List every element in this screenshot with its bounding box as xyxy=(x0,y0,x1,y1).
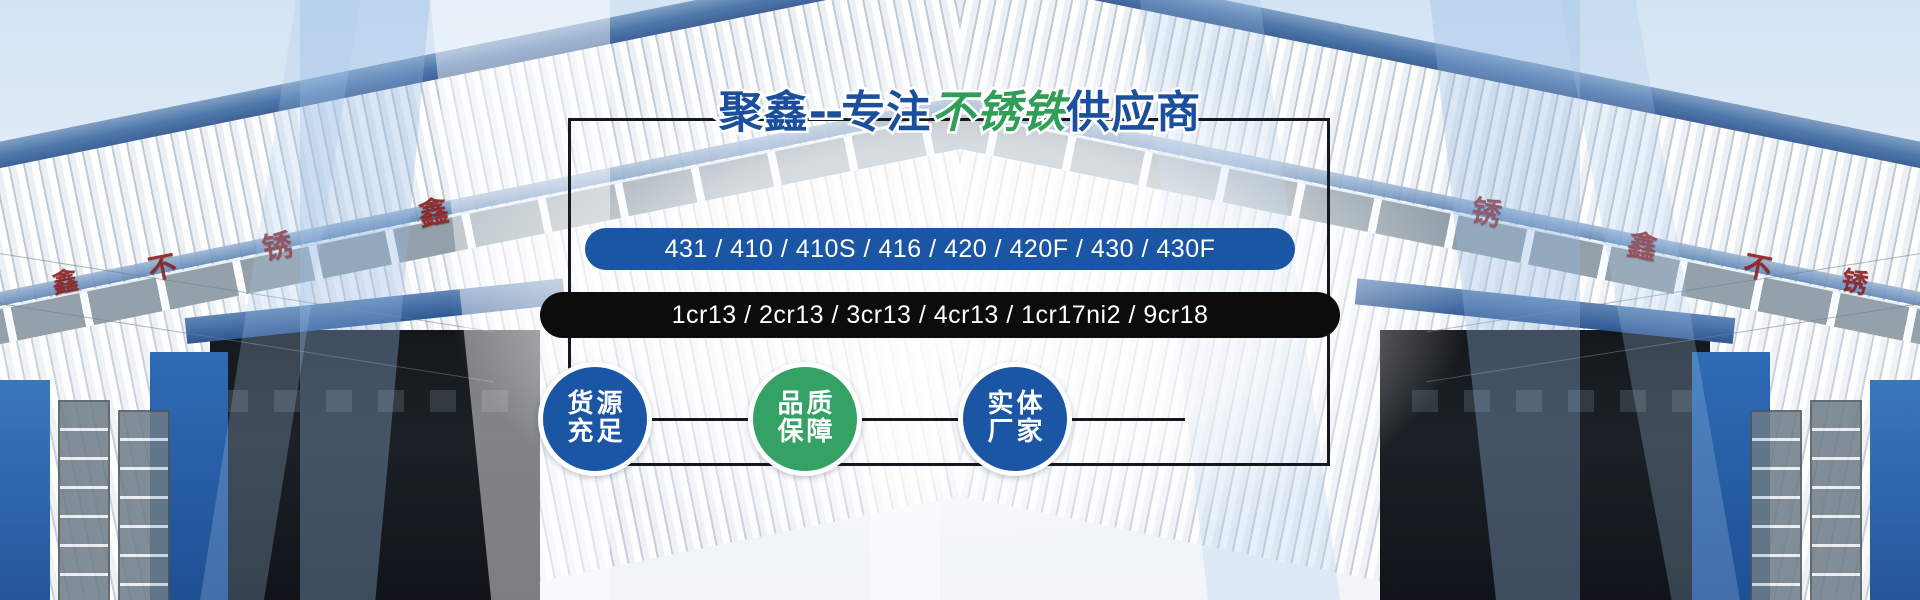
badge-line1: 货源 xyxy=(564,391,625,419)
badge-factory: 实体 厂家 xyxy=(958,362,1072,476)
badge-line2: 厂家 xyxy=(984,419,1045,447)
page-title: 聚鑫--专注不锈铁供应商 xyxy=(0,76,1920,140)
promo-banner: 鑫 不 锈 鑫 锈 不 鑫 锈 xyxy=(0,0,1920,600)
headline-part3: 供应商 xyxy=(1066,87,1201,138)
headline-highlight: 不锈铁 xyxy=(931,87,1066,138)
headline-part1: 聚鑫 xyxy=(719,87,809,138)
badge-line1: 品质 xyxy=(774,391,835,419)
grade-pill-blue: 431 / 410 / 410S / 416 / 420 / 420F / 43… xyxy=(585,228,1295,270)
headline-part2: 专注 xyxy=(841,87,931,138)
badge-supply: 货源 充足 xyxy=(538,362,652,476)
headline-dash: -- xyxy=(809,87,842,138)
badge-line2: 充足 xyxy=(564,419,625,447)
banner-content: 聚鑫--专注不锈铁供应商 431 / 410 / 410S / 416 / 42… xyxy=(0,0,1920,600)
badge-line1: 实体 xyxy=(984,391,1045,419)
badge-quality: 品质 保障 xyxy=(748,362,862,476)
badge-line2: 保障 xyxy=(774,419,835,447)
badge-connector-line xyxy=(1055,418,1185,421)
grade-pill-black: 1cr13 / 2cr13 / 3cr13 / 4cr13 / 1cr17ni2… xyxy=(540,292,1340,338)
